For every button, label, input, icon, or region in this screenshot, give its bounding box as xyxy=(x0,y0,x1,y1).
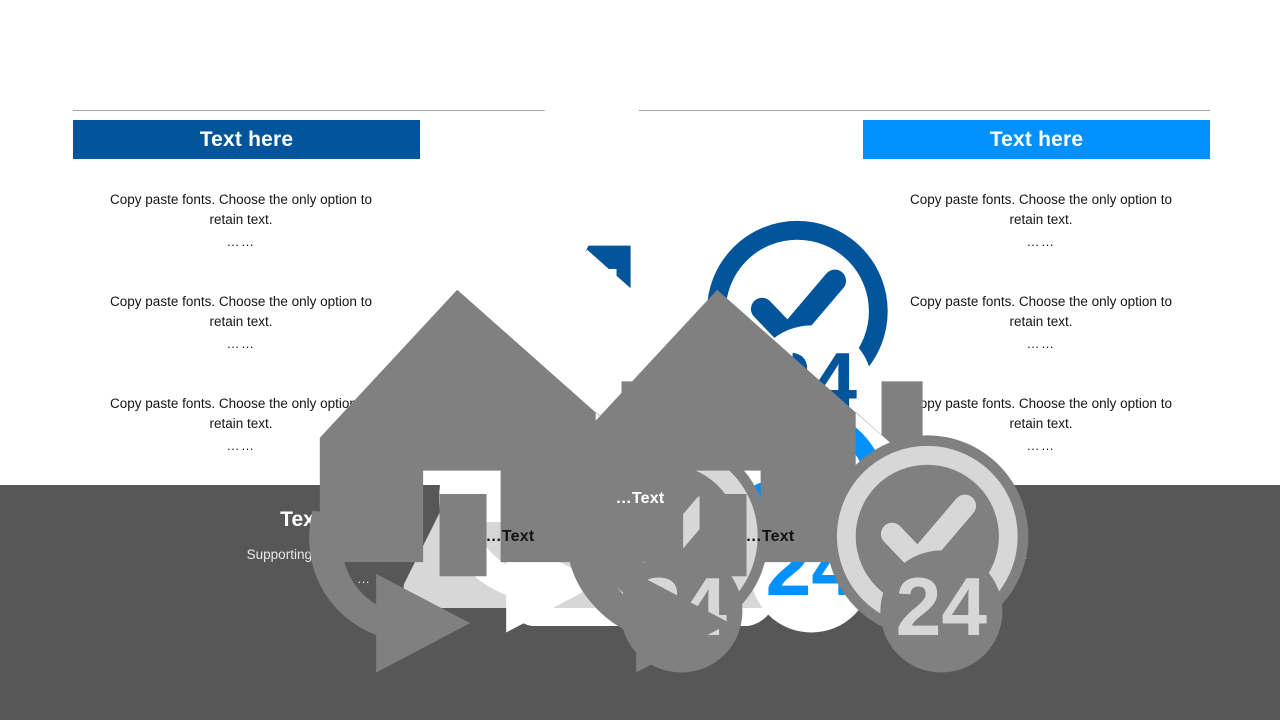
house-clock-24-icon: 24 xyxy=(500,252,1040,722)
slide-canvas: Text here Text here Copy paste fonts. Ch… xyxy=(0,0,1280,720)
left-column-header[interactable]: Text here xyxy=(73,120,420,159)
right-column-header-label: Text here xyxy=(990,128,1084,152)
left-paragraph-1-dots: …… xyxy=(96,233,386,252)
triangle-bottom-left-label: …Text xyxy=(486,528,535,546)
triangle-top-label: …Text xyxy=(616,308,665,326)
right-column-header[interactable]: Text here xyxy=(863,120,1210,159)
right-paragraph-1-body: Copy paste fonts. Choose the only option… xyxy=(910,192,1172,227)
triangle-center-label: …Text xyxy=(616,490,665,508)
left-column-header-label: Text here xyxy=(200,128,294,152)
left-paragraph-1: Copy paste fonts. Choose the only option… xyxy=(96,190,386,252)
left-paragraph-1-body: Copy paste fonts. Choose the only option… xyxy=(110,192,372,227)
triangle-diagram: 24 24 xyxy=(370,160,910,630)
right-paragraph-1-dots: …… xyxy=(896,233,1186,252)
right-paragraph-1: Copy paste fonts. Choose the only option… xyxy=(896,190,1186,252)
svg-text:24: 24 xyxy=(896,562,988,653)
triangle-bottom-right-label: …Text xyxy=(746,528,795,546)
triangle-bottom-right-icon-wrap: 24 xyxy=(500,252,1040,722)
